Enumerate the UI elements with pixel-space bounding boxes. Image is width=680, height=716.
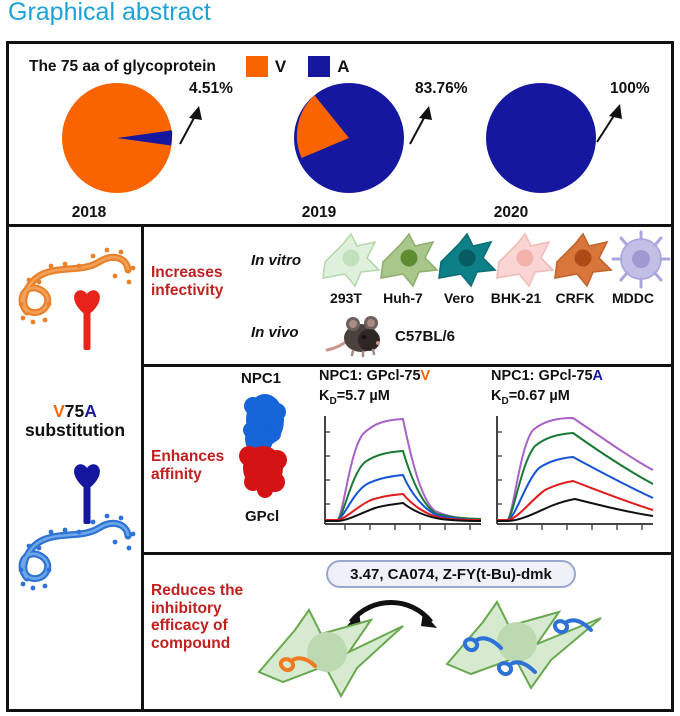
pie-panel-header: The 75 aa of glycoprotein V A bbox=[29, 56, 350, 77]
infected-cell-left bbox=[253, 604, 413, 700]
cell-icon-vero bbox=[439, 234, 495, 286]
spr-kd-75a-sub: D bbox=[501, 396, 508, 407]
graphical-abstract-frame: The 75 aa of glycoprotein V A bbox=[6, 41, 674, 712]
affinity-label-line2: affinity bbox=[151, 466, 224, 484]
pie-chart-2018: 4.51% 2018 bbox=[39, 82, 249, 222]
inhibition-row: Reduces the inhibitory efficacy of compo… bbox=[141, 552, 671, 712]
legend-entry-v: V bbox=[246, 56, 286, 77]
spr-curve-75a-2 bbox=[497, 433, 653, 520]
glycoprotein-spike-red-icon bbox=[74, 290, 100, 350]
spr-title-75a-variant: A bbox=[593, 368, 603, 384]
cell-label-crfk: CRFK bbox=[547, 290, 603, 306]
in-vitro-tag: In vitro bbox=[251, 252, 301, 269]
npc1-gpcl-structure-icon bbox=[223, 390, 313, 510]
substitution-residue-a: A bbox=[84, 401, 97, 421]
legend-label-v: V bbox=[275, 57, 286, 77]
substitution-position: 75 bbox=[65, 401, 84, 421]
v75a-substitution-label: V75A substitution bbox=[9, 402, 141, 440]
affinity-label-line1: Enhances bbox=[151, 448, 224, 466]
substitution-word: substitution bbox=[9, 421, 141, 440]
legend-swatch-a bbox=[308, 56, 330, 77]
spr-kd-75v-symbol: K bbox=[319, 388, 329, 404]
infectivity-label-line1: Increases bbox=[151, 264, 223, 282]
spr-kd-75v-value: =5.7 µM bbox=[337, 388, 390, 404]
cell-icon-crfk bbox=[555, 234, 611, 286]
cell-label-bhk21: BHK-21 bbox=[485, 290, 547, 306]
cell-icon-293t bbox=[323, 234, 379, 286]
spr-curve-75v-2 bbox=[325, 451, 481, 520]
inhibition-label: Reduces the inhibitory efficacy of compo… bbox=[151, 582, 243, 652]
pie-2018-callout-arrow bbox=[180, 106, 202, 144]
inhibition-label-line4: compound bbox=[151, 635, 243, 653]
cell-icon-huh7 bbox=[381, 234, 437, 286]
pie-2020-svg bbox=[469, 82, 669, 200]
pie-chart-2020: 100% 2020 bbox=[469, 82, 669, 222]
spr-kd-75a-symbol: K bbox=[491, 388, 501, 404]
spr-kd-75v: KD=5.7 µM bbox=[319, 388, 390, 407]
mouse-icon bbox=[323, 314, 393, 356]
pie-2019-percent: 83.76% bbox=[415, 80, 468, 98]
pie-panel-caption: The 75 aa of glycoprotein bbox=[29, 58, 216, 76]
structure-label-gpcl: GPcl bbox=[245, 508, 279, 525]
pie-panel: The 75 aa of glycoprotein V A bbox=[9, 44, 671, 224]
glycoprotein-spike-blue-icon bbox=[74, 464, 100, 524]
cell-label-vero: Vero bbox=[433, 290, 485, 306]
structure-label-npc1: NPC1 bbox=[241, 370, 281, 387]
pie-2020-slice-a bbox=[486, 83, 596, 193]
pie-2020-percent: 100% bbox=[610, 80, 650, 98]
pie-2020-callout-arrow bbox=[597, 104, 622, 142]
substitution-residue-v: V bbox=[53, 401, 65, 421]
spr-sensorgram-75a bbox=[487, 412, 657, 540]
inhibition-label-line3: efficacy of bbox=[151, 617, 243, 635]
spr-title-75v: NPC1: GPcl-75V bbox=[319, 368, 430, 384]
spr-kd-75a: KD=0.67 µM bbox=[491, 388, 570, 407]
in-vivo-tag: In vivo bbox=[251, 324, 299, 341]
spr-title-75v-variant: V bbox=[421, 368, 431, 384]
pie-2019-callout-arrow bbox=[410, 106, 432, 144]
pie-2018-year: 2018 bbox=[0, 204, 194, 222]
spr-kd-75v-sub: D bbox=[329, 396, 336, 407]
affinity-label: Enhances affinity bbox=[151, 448, 224, 483]
page-title: Graphical abstract bbox=[8, 0, 211, 27]
infectivity-label-line2: infectivity bbox=[151, 282, 223, 300]
cell-icon-bhk21 bbox=[497, 234, 553, 286]
inhibition-label-line2: inhibitory bbox=[151, 600, 243, 618]
substitution-column: V75A substitution bbox=[9, 224, 141, 712]
animal-model-label: C57BL/6 bbox=[395, 328, 455, 345]
affinity-row: Enhances affinity NPC1 GPcl NPC1: GPcl-7… bbox=[141, 364, 671, 552]
spr-title-75a: NPC1: GPcl-75A bbox=[491, 368, 603, 384]
structure-gpcl-blob bbox=[239, 446, 287, 498]
spr-title-75a-prefix: NPC1: GPcl-75 bbox=[491, 368, 593, 384]
inhibition-label-line1: Reduces the bbox=[151, 582, 243, 600]
infectivity-label: Increases infectivity bbox=[151, 264, 223, 299]
spr-kd-75a-value: =0.67 µM bbox=[509, 388, 570, 404]
structure-npc1-blob bbox=[243, 394, 286, 455]
infected-cell-right bbox=[441, 596, 611, 692]
legend-label-a: A bbox=[337, 57, 349, 77]
cell-line-icons bbox=[317, 232, 677, 290]
spr-sensorgram-75v bbox=[315, 412, 485, 540]
pie-2019-year: 2019 bbox=[219, 204, 419, 222]
compound-list-pill: 3.47, CA074, Z-FY(t-Bu)-dmk bbox=[326, 560, 576, 588]
pie-2020-year: 2020 bbox=[411, 204, 611, 222]
cell-label-huh7: Huh-7 bbox=[375, 290, 431, 306]
virion-orange-icon bbox=[9, 232, 139, 382]
cell-label-293t: 293T bbox=[319, 290, 373, 306]
cell-icon-mddc bbox=[613, 232, 669, 287]
legend-swatch-v bbox=[246, 56, 268, 77]
spr-title-75v-prefix: NPC1: GPcl-75 bbox=[319, 368, 421, 384]
infectivity-row: Increases infectivity In vitro bbox=[141, 224, 671, 364]
pie-chart-2019: 83.76% 2019 bbox=[277, 82, 477, 222]
pie-2019-svg bbox=[277, 82, 477, 200]
cell-label-mddc: MDDC bbox=[603, 290, 663, 306]
legend-entry-a: A bbox=[308, 56, 349, 77]
pie-2018-percent: 4.51% bbox=[189, 80, 233, 98]
pie-2018-svg bbox=[39, 82, 249, 200]
virion-blue-icon bbox=[9, 462, 139, 622]
